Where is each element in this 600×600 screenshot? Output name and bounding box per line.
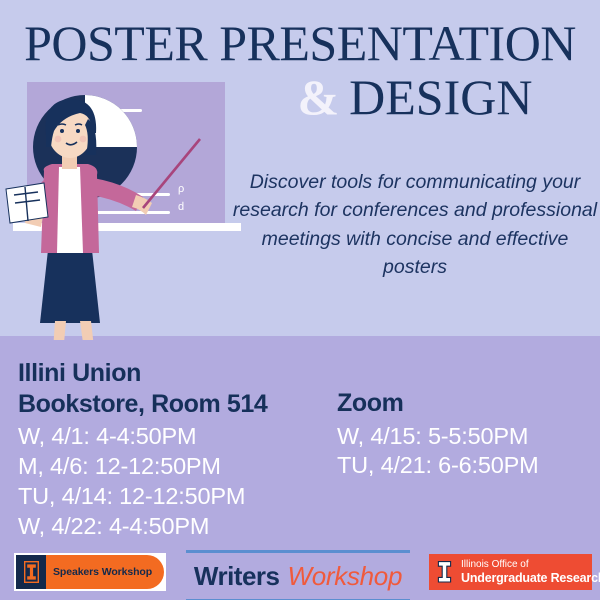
department-line: Undergraduate Research	[461, 571, 600, 585]
ampersand-glyph: &	[298, 69, 340, 125]
block-i-icon	[16, 555, 46, 589]
presenter-illustration: ρ ԁ	[0, 75, 240, 340]
venue-name-zoom: Zoom	[337, 388, 595, 419]
session-block-in-person: Illini Union Bookstore, Room 514 W, 4/1:…	[18, 358, 328, 541]
session-time: TU, 4/14: 12-12:50PM	[18, 482, 328, 512]
poster-canvas: POSTER PRESENTATION &DESIGN Discover too…	[0, 0, 600, 600]
session-block-zoom: Zoom W, 4/15: 5-5:50PM TU, 4/21: 6-6:50P…	[337, 388, 595, 481]
writers-word: Writers	[194, 561, 280, 592]
session-time: W, 4/15: 5-5:50PM	[337, 422, 595, 452]
session-time: M, 4/6: 12-12:50PM	[18, 452, 328, 482]
venue-name-line2: Bookstore, Room 514	[18, 389, 328, 420]
description-text: Discover tools for communicating your re…	[232, 168, 598, 281]
undergraduate-research-text: Illinois Office of Undergraduate Researc…	[461, 559, 600, 584]
venue-name-line1: Illini Union	[18, 358, 328, 389]
session-time: TU, 4/21: 6-6:50PM	[337, 451, 595, 481]
session-times-zoom: W, 4/15: 5-5:50PM TU, 4/21: 6-6:50PM	[337, 422, 595, 482]
session-time: W, 4/1: 4-4:50PM	[18, 422, 328, 452]
session-time: W, 4/22: 4-4:50PM	[18, 512, 328, 542]
speakers-workshop-logo[interactable]: Speakers Workshop	[14, 553, 166, 591]
session-times-in-person: W, 4/1: 4-4:50PM M, 4/6: 12-12:50PM TU, …	[18, 422, 328, 541]
page-title-line1: POSTER PRESENTATION	[0, 18, 600, 68]
block-i-glyph	[24, 561, 39, 583]
block-i-glyph	[436, 560, 453, 584]
presenter-figure-icon	[0, 75, 240, 340]
block-i-icon	[431, 554, 457, 590]
writers-workshop-logo[interactable]: Writers Workshop	[186, 550, 410, 600]
footer-logo-bar: Speakers Workshop Writers Workshop Illin…	[0, 548, 600, 600]
undergraduate-research-logo[interactable]: Illinois Office of Undergraduate Researc…	[429, 554, 592, 590]
page-title-design: DESIGN	[349, 69, 532, 125]
page-title-line2: &DESIGN	[230, 72, 600, 122]
workshop-word: Workshop	[287, 561, 402, 592]
speakers-workshop-label: Speakers Workshop	[53, 566, 152, 578]
office-line: Illinois Office of	[461, 559, 600, 570]
